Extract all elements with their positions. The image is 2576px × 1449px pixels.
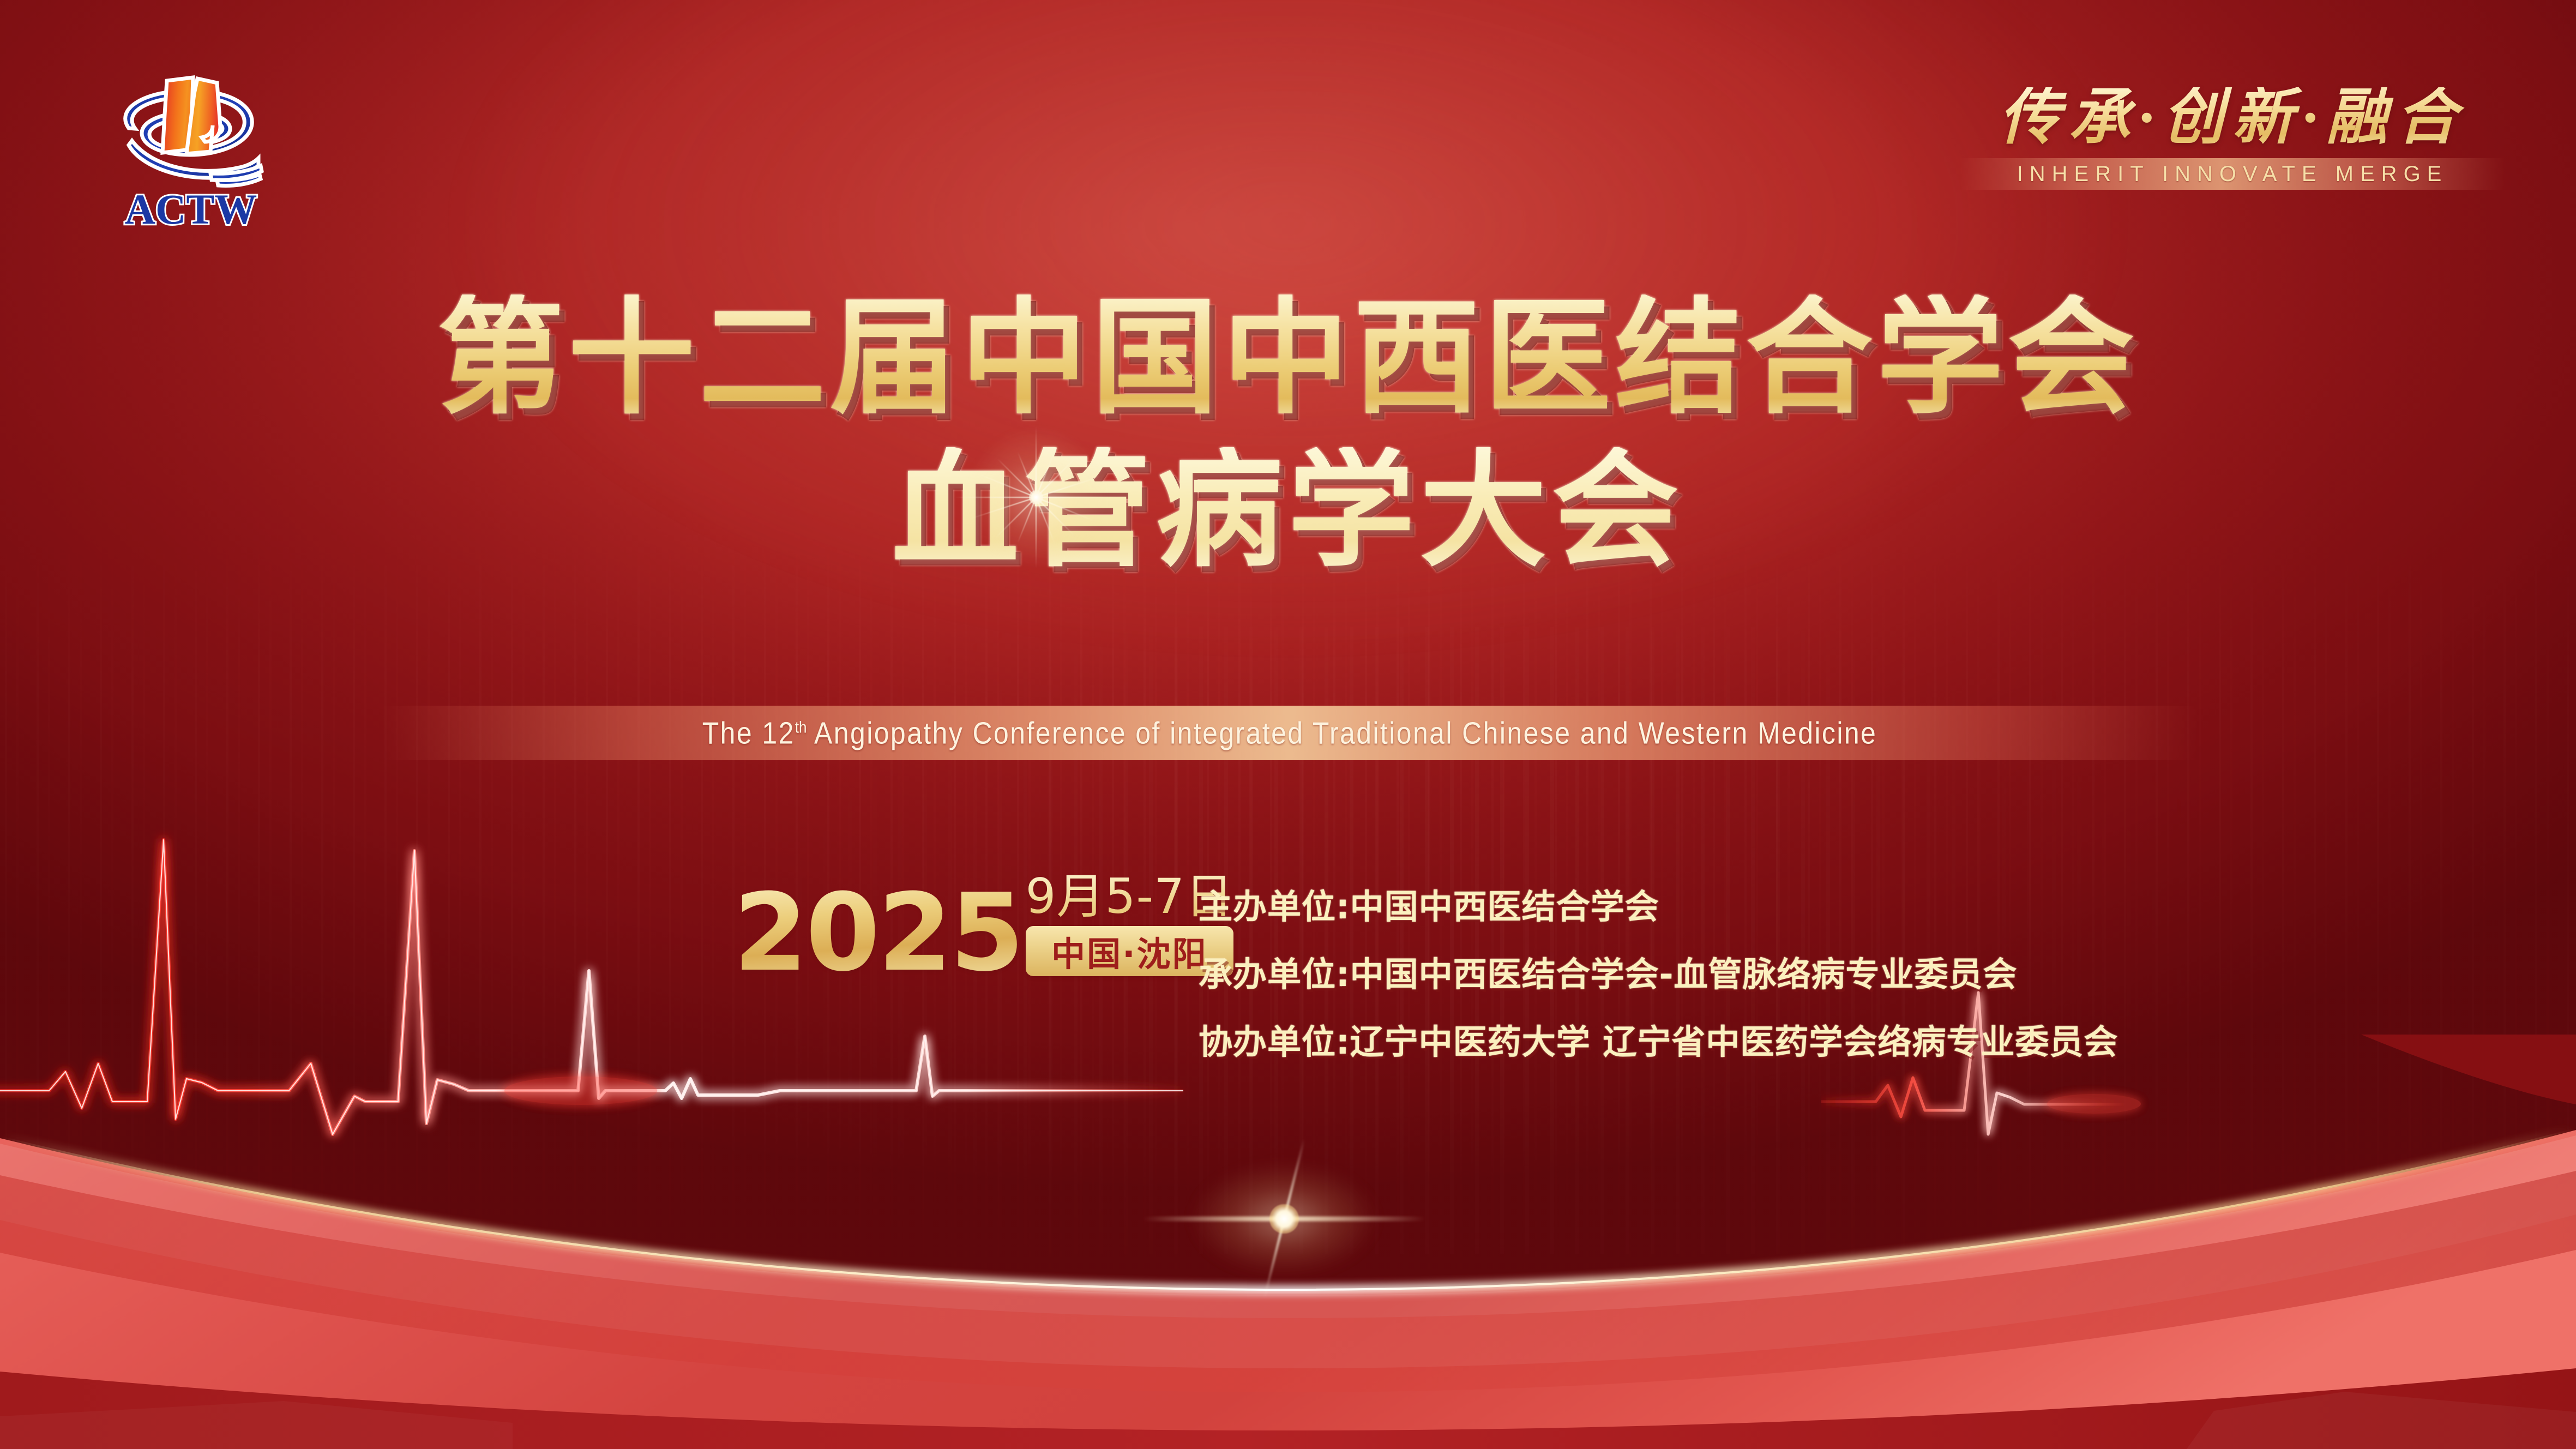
organizer-coorganizer: 协办单位:辽宁中医药大学 辽宁省中医药学会络病专业委员会 (1199, 1014, 2118, 1063)
actw-logo: ACTW (104, 44, 278, 235)
logo-wordmark: ACTW (125, 185, 257, 233)
slogan-band: INHERIT INNOVATE MERGE (1960, 158, 2505, 190)
subtitle-text: The 12th Angiopathy Conference of integr… (702, 715, 1877, 751)
event-year: 2025 (733, 887, 1022, 979)
slogan-english: INHERIT INNOVATE MERGE (1960, 158, 2505, 190)
organizer-list: 主办单位:中国中西医结合学会 承办单位:中国中西医结合学会-血管脉络病专业委员会… (1199, 879, 2118, 1063)
slogan-chinese: 传承·创新·融合 (1960, 87, 2505, 148)
date-block: 2025 9月5-7日 中国·沈阳 (733, 873, 1233, 979)
subtitle-post: Angiopathy Conference of integrated Trad… (807, 716, 1877, 750)
page-title: 第十二届中国中西医结合学会 血管病学大会 (0, 294, 2576, 574)
subtitle-ordinal: th (795, 718, 807, 736)
title-line-2: 血管病学大会 (0, 447, 2576, 574)
title-line-1: 第十二届中国中西医结合学会 (0, 294, 2576, 421)
subtitle-band: The 12th Angiopathy Conference of integr… (382, 706, 2198, 760)
organizer-undertaker: 承办单位:中国中西医结合学会-血管脉络病专业委员会 (1199, 947, 2118, 996)
event-city-label: 中国·沈阳 (1051, 927, 1208, 976)
subtitle-pre: The 12 (702, 716, 795, 750)
slogan-block: 传承·创新·融合 INHERIT INNOVATE MERGE (1960, 87, 2505, 190)
organizer-host: 主办单位:中国中西医结合学会 (1199, 879, 2118, 928)
conference-banner: ACTW 传承·创新·融合 INHERIT INNOVATE MERGE 第十二… (0, 0, 2576, 1449)
bottom-ribbon-curves (0, 1035, 2576, 1449)
